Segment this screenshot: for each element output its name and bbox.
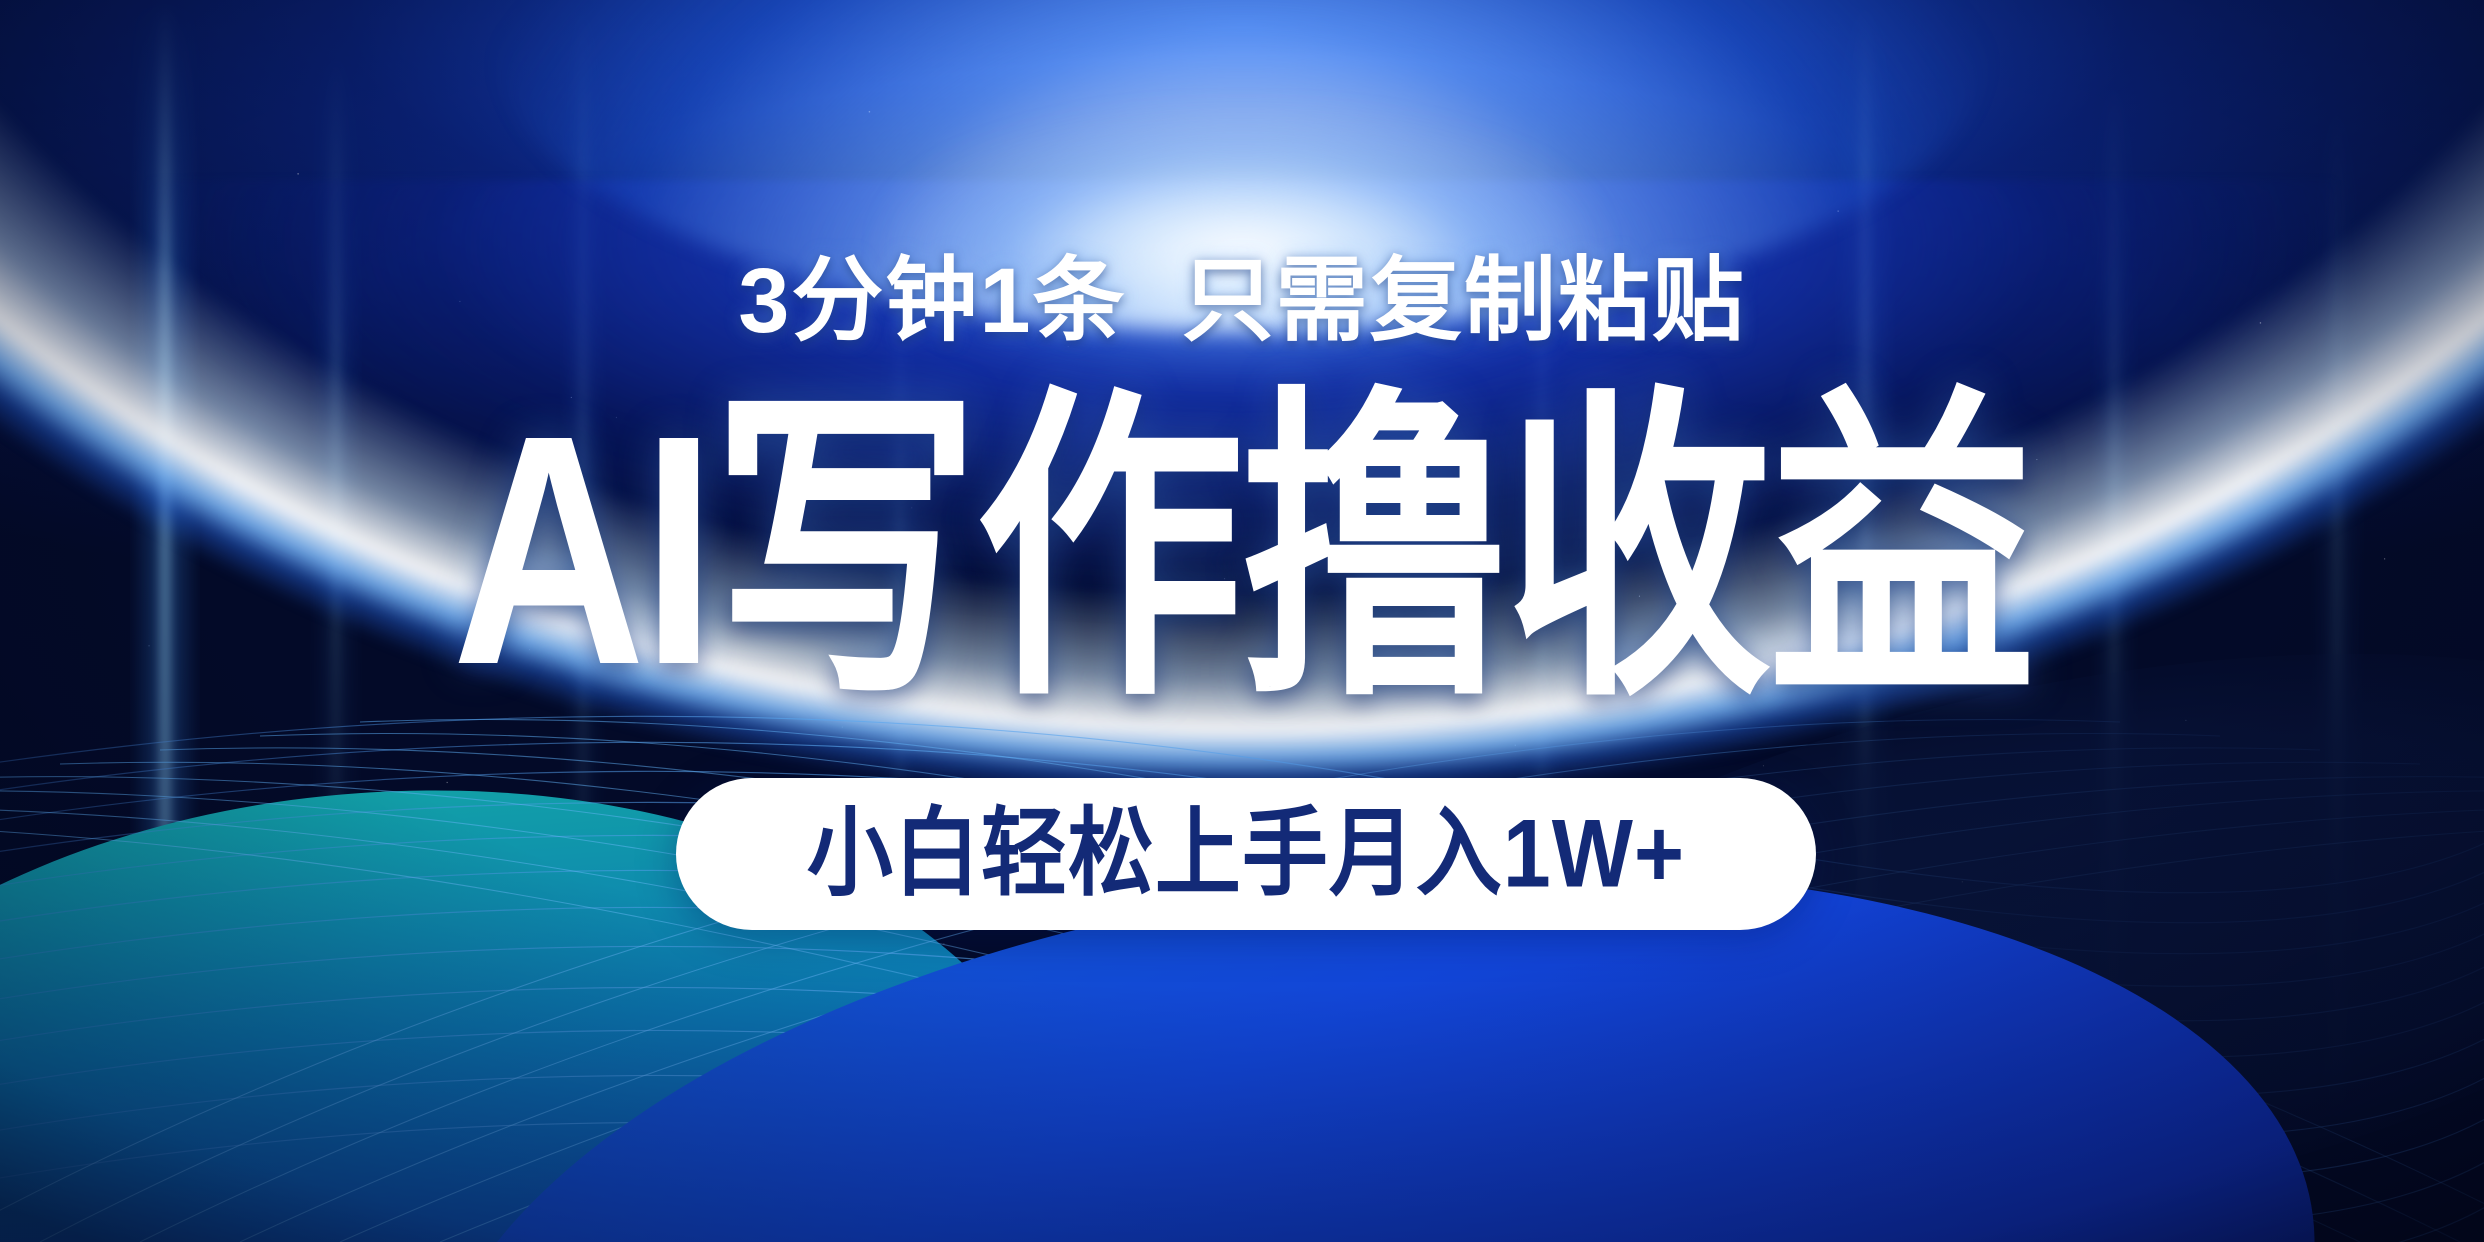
highlight-pill-label: 小白轻松上手月入1W+ bbox=[807, 806, 1685, 902]
poster-canvas: 3分钟1条 只需复制粘贴 AI写作撸收益 小白轻松上手月入1W+ bbox=[0, 0, 2484, 1242]
highlight-pill: 小白轻松上手月入1W+ bbox=[676, 778, 1816, 930]
page-title: AI写作撸收益 bbox=[0, 386, 2484, 713]
tagline: 3分钟1条 只需复制粘贴 bbox=[0, 255, 2484, 347]
